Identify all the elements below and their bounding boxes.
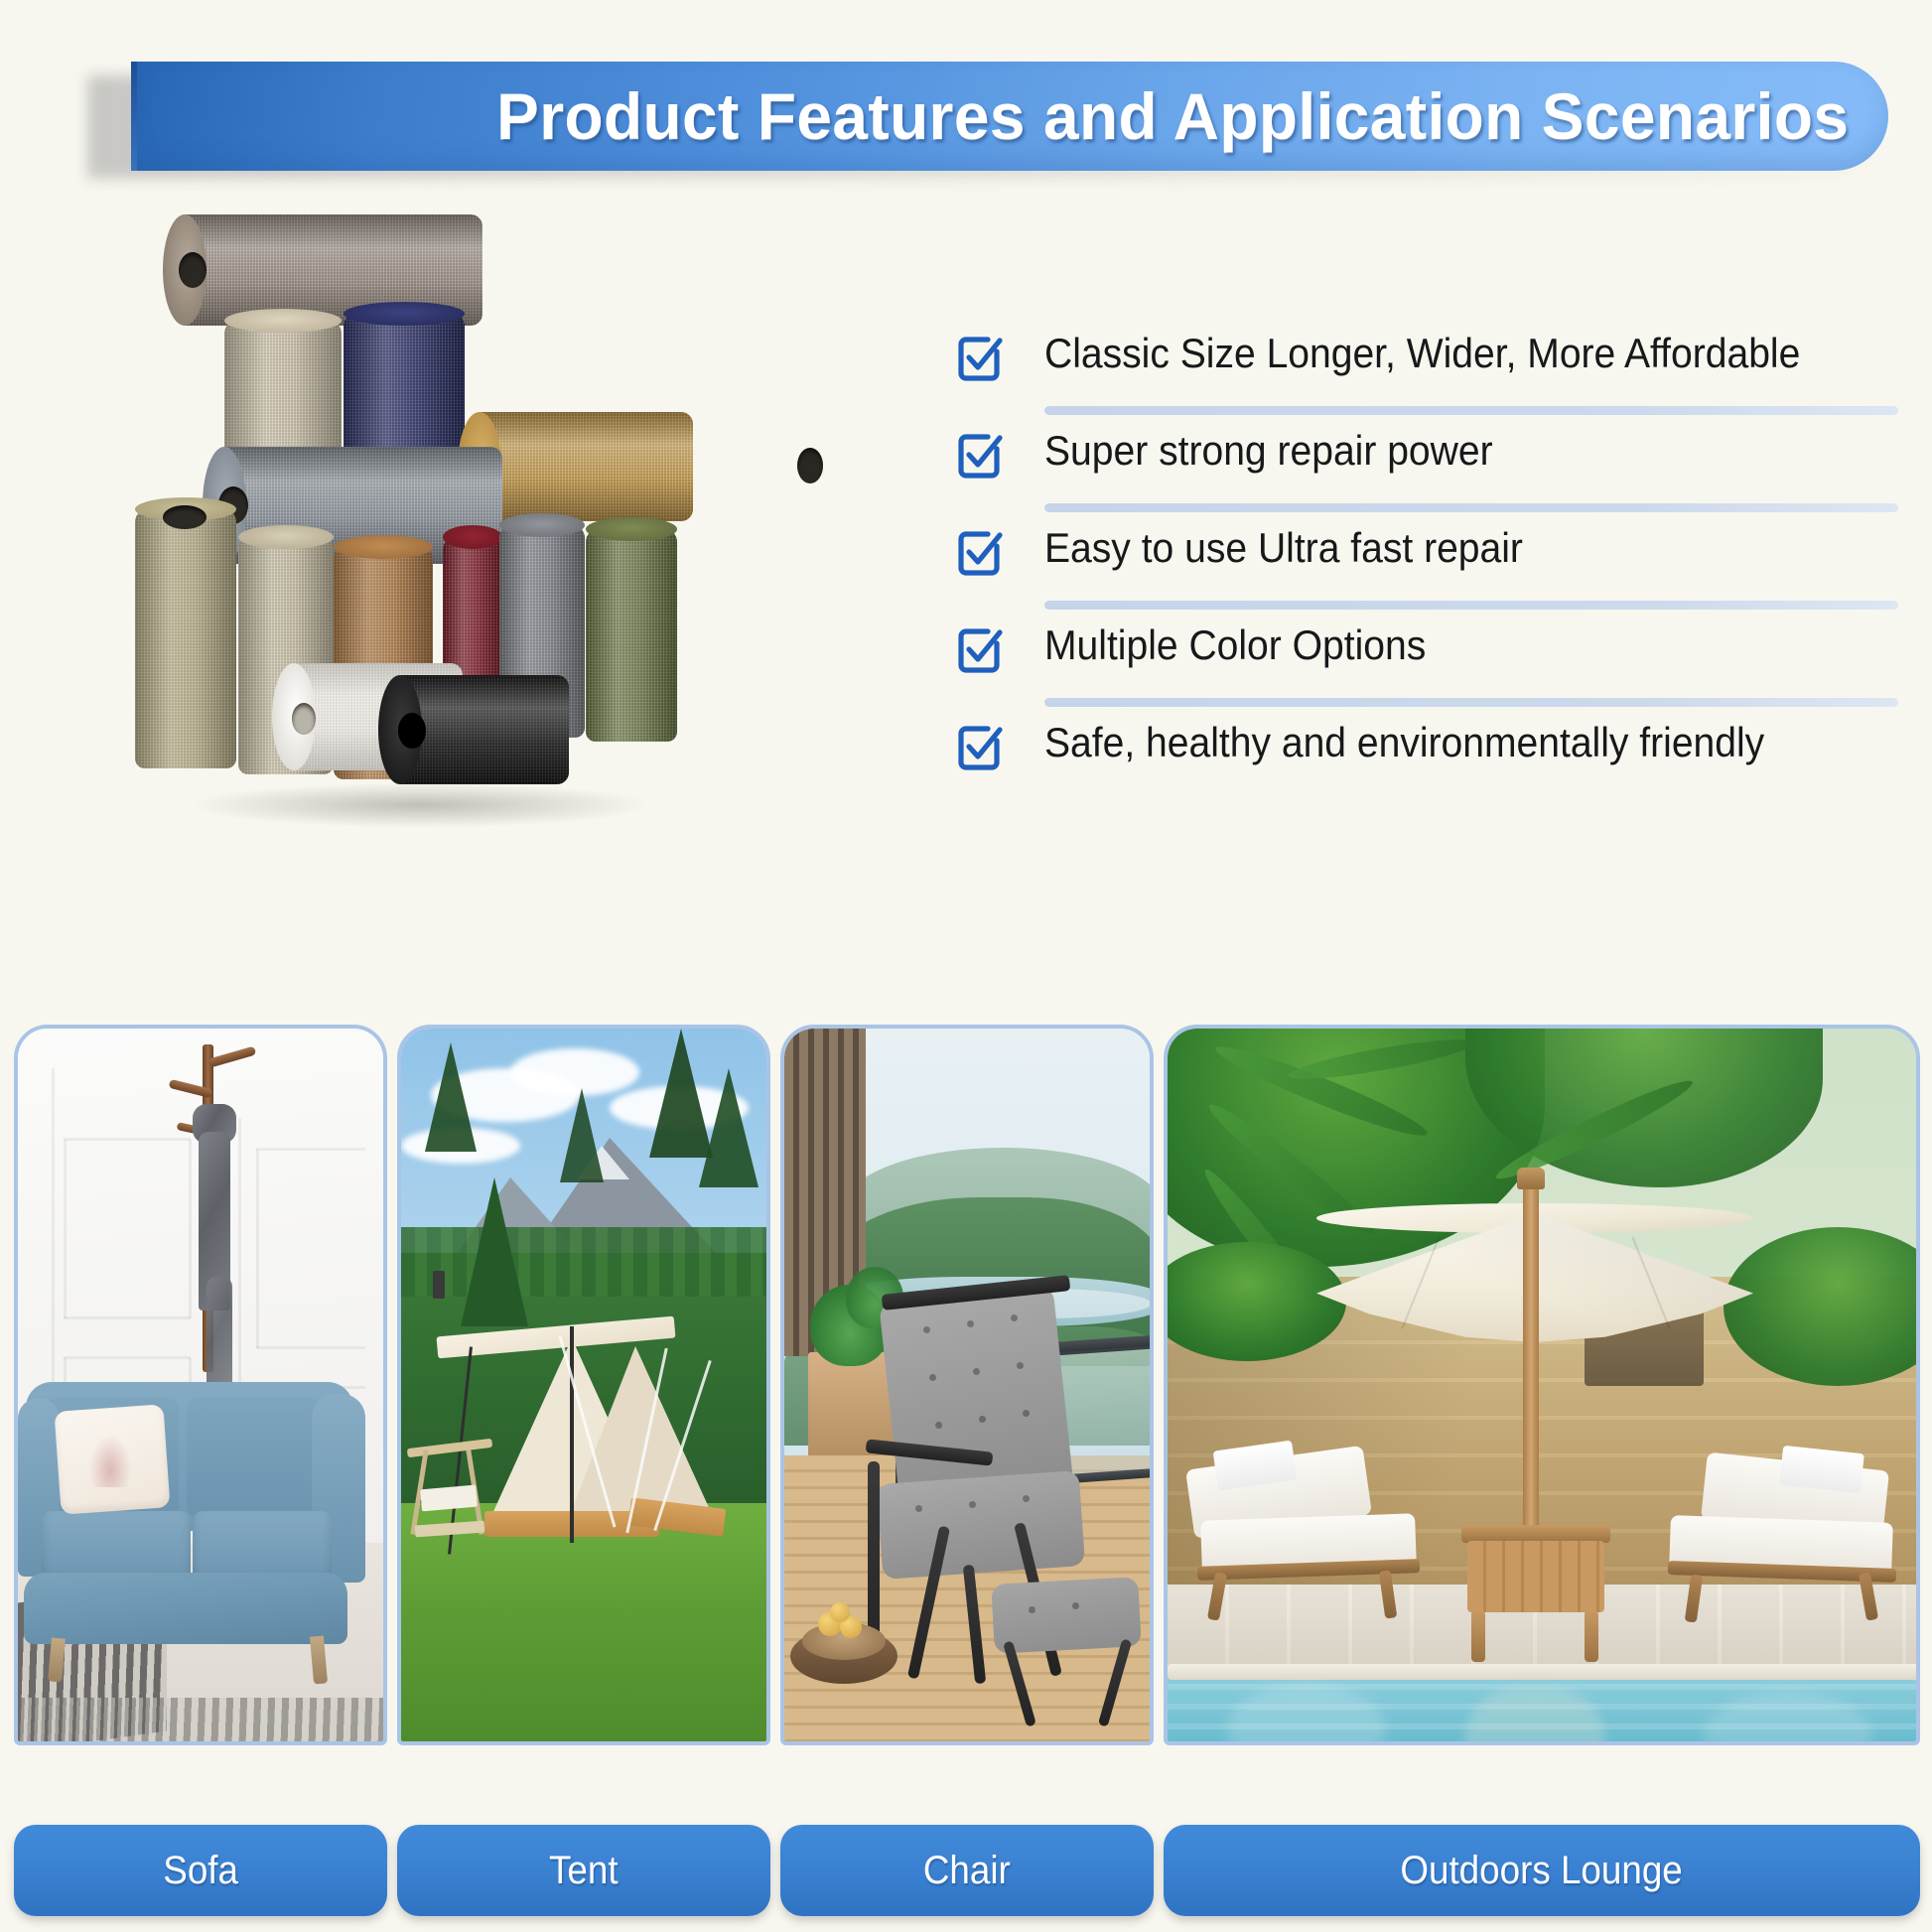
scenario-caption-label: Tent [549, 1849, 619, 1893]
checkbox-checked-icon [953, 721, 1005, 772]
scenario-caption-chair: Chair [780, 1825, 1154, 1916]
fabric-roll-gold [470, 412, 693, 521]
feature-label: Classic Size Longer, Wider, More Afforda… [1044, 328, 1800, 379]
feature-label: Safe, healthy and environmentally friend… [1044, 717, 1764, 768]
scenario-panels: Sofa [0, 1025, 1932, 1932]
scenario-caption-label: Outdoors Lounge [1401, 1849, 1683, 1893]
fabric-roll-olive [586, 528, 677, 742]
feature-label: Multiple Color Options [1044, 620, 1426, 671]
checkbox-checked-icon [953, 429, 1005, 481]
product-shadow [187, 782, 653, 828]
feature-divider [1044, 601, 1898, 610]
feature-divider [1044, 698, 1898, 707]
checkbox-checked-icon [953, 332, 1005, 383]
scenario-panel-outdoors-lounge[interactable]: Outdoors Lounge [1164, 1025, 1920, 1932]
feature-item: Classic Size Longer, Wider, More Afforda… [953, 328, 1898, 425]
fabric-roll-black [390, 675, 569, 784]
scenario-panel-chair[interactable]: Chair [780, 1025, 1154, 1932]
scenario-caption-label: Sofa [163, 1849, 238, 1893]
page-title: Product Features and Application Scenari… [496, 78, 1849, 154]
feature-item: Super strong repair power [953, 425, 1898, 522]
feature-list: Classic Size Longer, Wider, More Afforda… [953, 328, 1898, 814]
checkbox-checked-icon [953, 526, 1005, 578]
scenario-caption-tent: Tent [397, 1825, 770, 1916]
scenario-image-chair [780, 1025, 1154, 1745]
feature-divider [1044, 503, 1898, 512]
feature-item: Safe, healthy and environmentally friend… [953, 717, 1898, 814]
scenario-caption-outdoors-lounge: Outdoors Lounge [1164, 1825, 1920, 1916]
feature-label: Easy to use Ultra fast repair [1044, 522, 1523, 574]
feature-divider [1044, 406, 1898, 415]
product-image-fabric-rolls [127, 208, 703, 834]
scenario-panel-sofa[interactable]: Sofa [14, 1025, 387, 1932]
header-banner: Product Features and Application Scenari… [131, 62, 1888, 171]
feature-item: Multiple Color Options [953, 620, 1898, 717]
scenario-image-sofa [14, 1025, 387, 1745]
feature-label: Super strong repair power [1044, 425, 1493, 477]
scenario-image-outdoors-lounge [1164, 1025, 1920, 1745]
scenario-caption-sofa: Sofa [14, 1825, 387, 1916]
scenario-caption-label: Chair [923, 1849, 1011, 1893]
feature-item: Easy to use Ultra fast repair [953, 522, 1898, 620]
fabric-roll-khaki [135, 508, 236, 768]
checkbox-checked-icon [953, 623, 1005, 675]
scenario-panel-tent[interactable]: Tent [397, 1025, 770, 1932]
header: Product Features and Application Scenari… [0, 0, 1932, 204]
scenario-image-tent [397, 1025, 770, 1745]
